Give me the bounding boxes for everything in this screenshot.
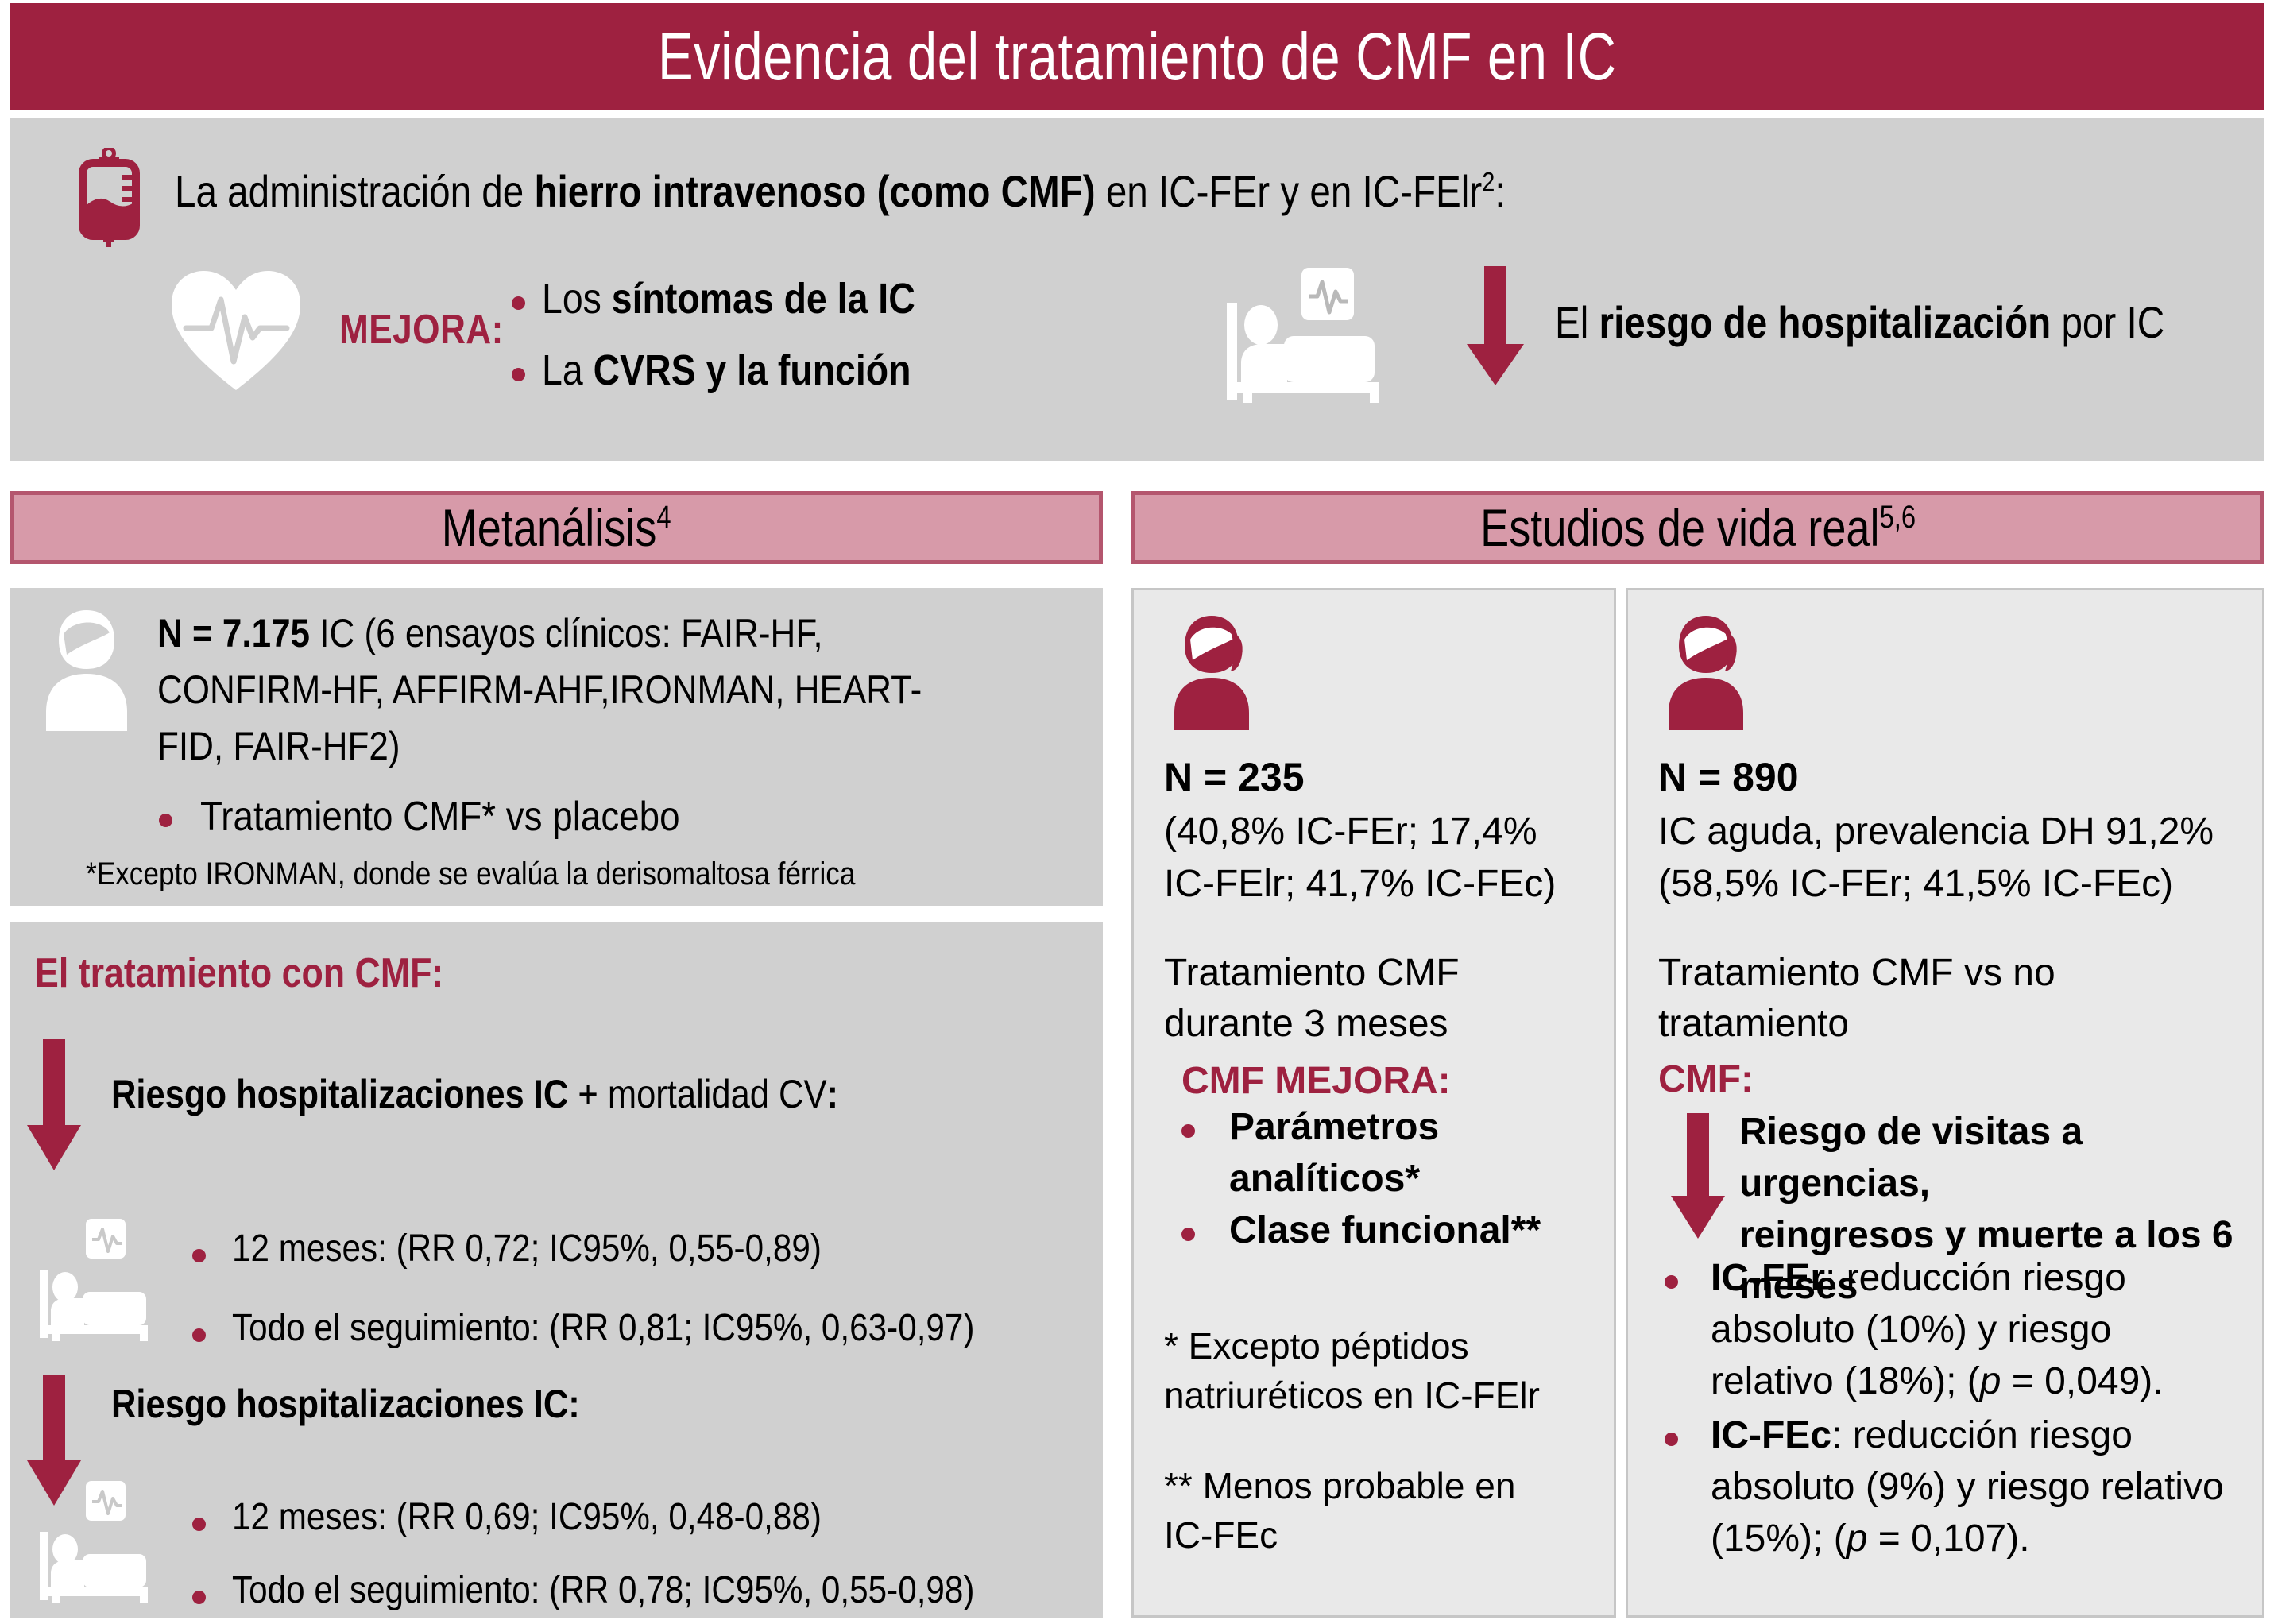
hospitalization-text: El riesgo de hospitalización por IC <box>1555 296 2164 348</box>
study-2-treatment-l1: Tratamiento CMF vs no <box>1658 948 2055 1000</box>
page-title-bar: Evidencia del tratamiento de CMF en IC <box>10 3 2264 110</box>
metaanalysis-summary-box: N = 7.175 IC (6 ensayos clínicos: FAIR-H… <box>10 588 1103 906</box>
metaanalysis-bullet-text: Tratamiento CMF* vs placebo <box>200 793 680 841</box>
study-1-bullet-dot <box>1181 1124 1195 1138</box>
improves-label: MEJORA: <box>339 306 504 354</box>
hospital-bed-icon <box>38 1217 172 1348</box>
hospitalization-block: El riesgo de hospitalización por IC <box>1225 257 2258 416</box>
person-icon <box>1164 613 1259 732</box>
realworld-study-card-1: N = 235 (40,8% IC-FEr; 17,4% IC-FElr; 41… <box>1131 588 1616 1618</box>
study-1-treatment-l2: durante 3 meses <box>1164 999 1448 1050</box>
improves-block: MEJORA: Los síntomas de la IC La CVRS y … <box>168 257 1122 416</box>
down-arrow-icon <box>1464 266 1527 385</box>
risk-item-2-2: Todo el seguimiento: (RR 0,78; IC95%, 0,… <box>232 1568 974 1612</box>
intro-panel: La administración de hierro intravenoso … <box>10 118 2264 461</box>
study-2-red-label: CMF: <box>1658 1058 1754 1101</box>
study-1-footnote-1-l2: natriuréticos en IC-FElr <box>1164 1371 1540 1420</box>
down-arrow-icon <box>25 1039 83 1170</box>
treatment-title: El tratamiento con CMF: <box>35 949 443 997</box>
metaanalysis-footnote: *Excepto IRONMAN, donde se evalúa la der… <box>86 856 855 892</box>
down-arrow-icon <box>1669 1113 1727 1239</box>
study-1-footnote-2-l2: IC-FEc <box>1164 1510 1278 1560</box>
hospital-bed-icon <box>38 1479 172 1610</box>
risk-group-head-2: Riesgo hospitalizaciones IC: <box>111 1381 580 1427</box>
metaanalysis-bullet-dot <box>159 814 172 827</box>
study-2-detail-l1: IC aguda, prevalencia DH 91,2% <box>1658 806 2214 858</box>
section-header-realworld: Estudios de vida real5,6 <box>1131 491 2264 564</box>
improves-item-2: La CVRS y la función <box>542 346 911 395</box>
improves-bullet-dot <box>512 368 525 381</box>
administration-row: La administración de hierro intravenoso … <box>57 141 2202 237</box>
risk-item-1-2: Todo el seguimiento: (RR 0,81; IC95%, 0,… <box>232 1306 974 1350</box>
realworld-study-card-2: N = 890 IC aguda, prevalencia DH 91,2% (… <box>1626 588 2264 1618</box>
study-1-bullet-2: Clase funcional** <box>1229 1205 1603 1257</box>
administration-text: La administración de hierro intravenoso … <box>175 165 1506 217</box>
improves-bullet-dot <box>512 296 525 310</box>
improves-item-1: Los síntomas de la IC <box>542 274 915 323</box>
metaanalysis-n-text: N = 7.175 IC (6 ensayos clínicos: FAIR-H… <box>157 605 969 775</box>
study-1-detail-l2: IC-FElr; 41,7% IC-FEc) <box>1164 859 1556 911</box>
study-2-bullet-dot <box>1665 1433 1678 1446</box>
study-1-treatment-l1: Tratamiento CMF <box>1164 948 1460 1000</box>
hospital-bed-icon <box>1225 266 1416 405</box>
metaanalysis-results-box: El tratamiento con CMF: Riesgo hospitali… <box>10 922 1103 1618</box>
section-header-metaanalysis: Metanálisis4 <box>10 491 1103 564</box>
study-1-bullet-dot <box>1181 1228 1195 1241</box>
study-2-bullet-1: IC-FEr: reducción riesgoabsoluto (10%) y… <box>1711 1253 2251 1407</box>
study-2-detail-l2: (58,5% IC-FEr; 41,5% IC-FEc) <box>1658 859 2173 911</box>
risk-item-1-1: 12 meses: (RR 0,72; IC95%, 0,55-0,89) <box>232 1227 822 1270</box>
page-title: Evidencia del tratamiento de CMF en IC <box>658 18 1617 95</box>
section-header-metaanalysis-label: Metanálisis4 <box>442 497 671 558</box>
risk-item-2-1: 12 meses: (RR 0,69; IC95%, 0,48-0,88) <box>232 1495 822 1539</box>
study-2-bullet-dot <box>1665 1275 1678 1289</box>
risk-bullet-dot <box>192 1591 206 1604</box>
study-1-detail-l1: (40,8% IC-FEr; 17,4% <box>1164 806 1537 858</box>
study-2-n: N = 890 <box>1658 754 1799 800</box>
risk-bullet-dot <box>192 1249 206 1262</box>
person-icon <box>35 605 138 733</box>
study-1-n: N = 235 <box>1164 754 1305 800</box>
heart-ecg-icon <box>168 265 304 396</box>
risk-group-head-1: Riesgo hospitalizaciones IC + mortalidad… <box>111 1071 838 1117</box>
study-2-treatment-l2: tratamiento <box>1658 999 1849 1050</box>
risk-bullet-dot <box>192 1518 206 1531</box>
study-1-footnote-2-l1: ** Menos probable en <box>1164 1461 1515 1510</box>
study-2-bullet-2: IC-FEc: reducción riesgoabsoluto (9%) y … <box>1711 1410 2259 1564</box>
study-1-footnote-1-l1: * Excepto péptidos <box>1164 1321 1469 1371</box>
iv-bag-icon <box>72 148 147 247</box>
person-icon <box>1658 613 1754 732</box>
study-1-red-label: CMF MEJORA: <box>1181 1059 1451 1103</box>
section-header-realworld-label: Estudios de vida real5,6 <box>1480 497 1916 558</box>
risk-bullet-dot <box>192 1328 206 1342</box>
study-1-bullet-1: Parámetrosanalíticos* <box>1229 1102 1603 1205</box>
